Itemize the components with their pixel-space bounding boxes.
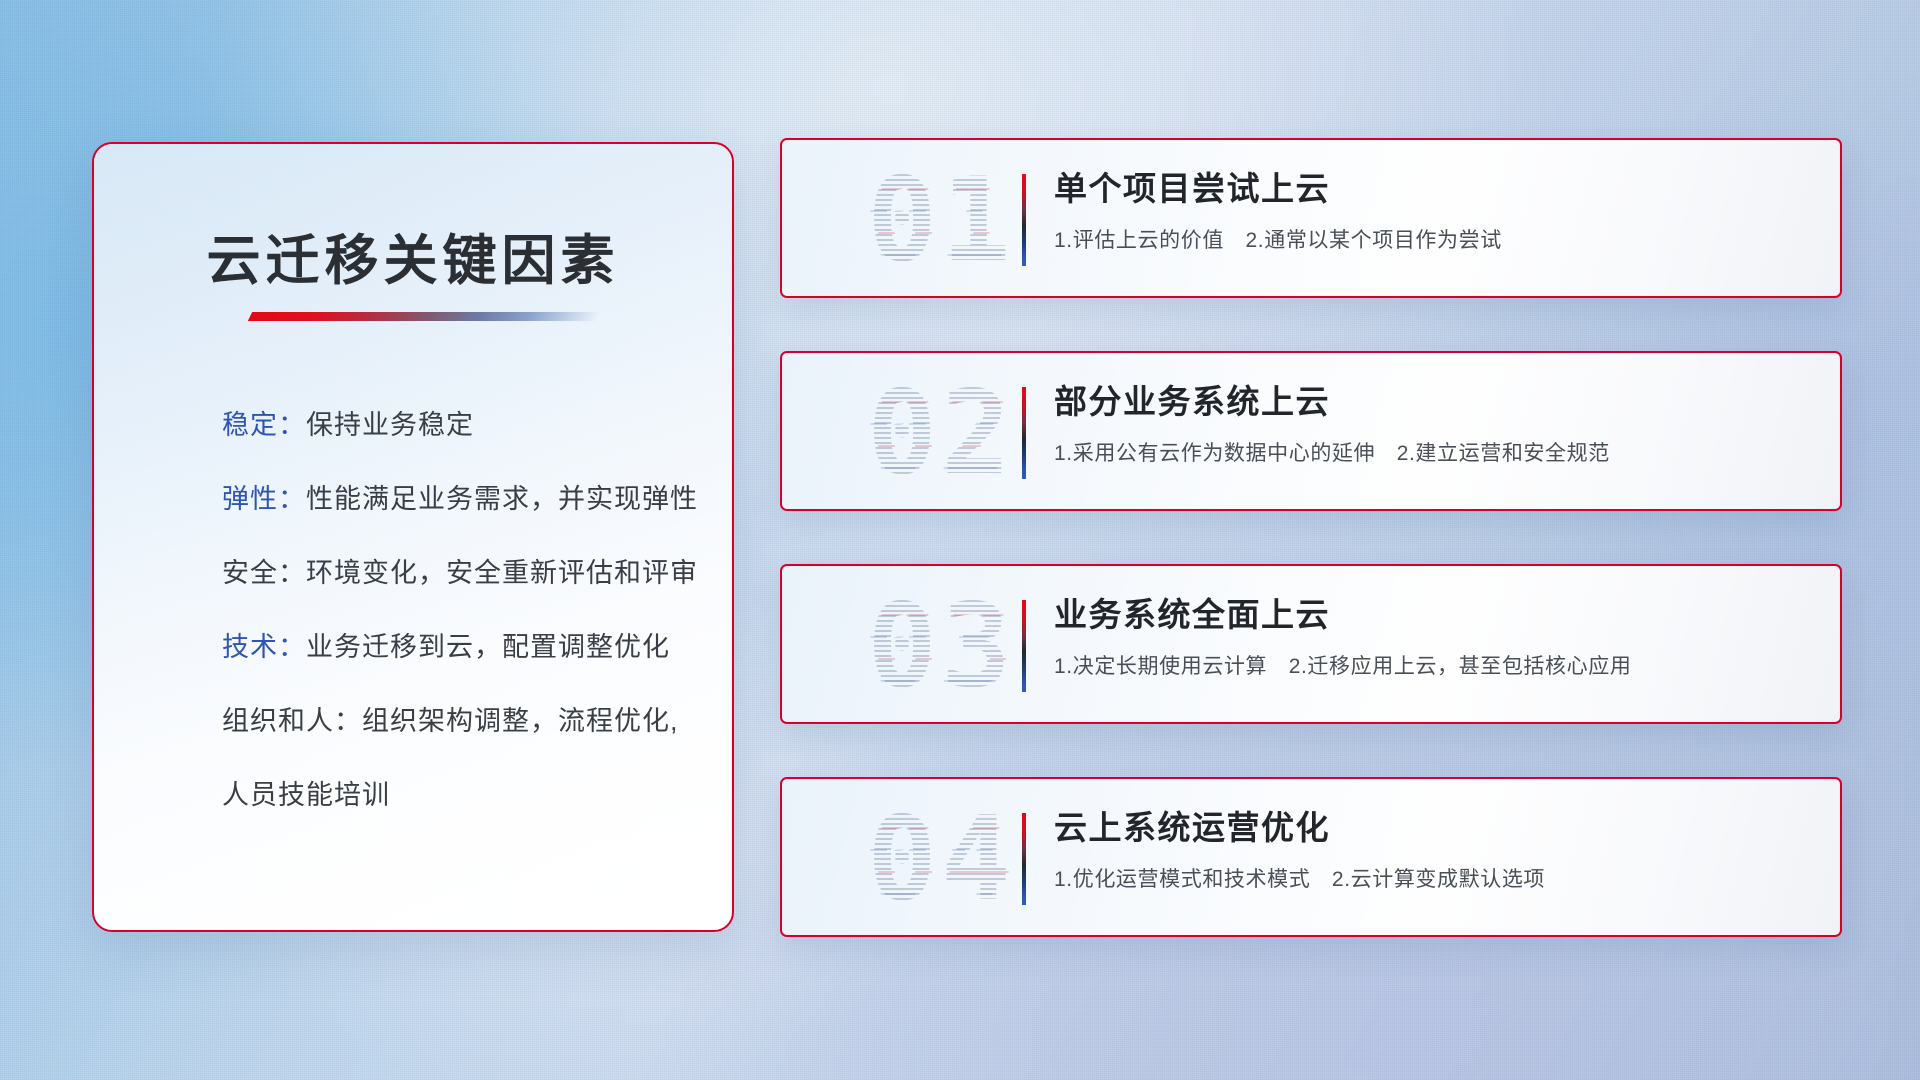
key-factor-text: 性能满足业务需求，并实现弹性	[306, 484, 698, 514]
stage-card[interactable]: 010101单个项目尝试上云1.评估上云的价值 2.通常以某个项目作为尝试	[780, 138, 1842, 298]
stage-number-watermark: 020202	[816, 367, 1066, 499]
stage-card-title: 部分业务系统上云	[1054, 383, 1806, 421]
key-factor-row: 安全：环境变化，安全重新评估和评审	[222, 560, 690, 587]
key-factors-list: 稳定：保持业务稳定弹性：性能满足业务需求，并实现弹性安全：环境变化，安全重新评估…	[222, 412, 690, 809]
key-factor-text: 环境变化，安全重新评估和评审	[306, 558, 698, 588]
key-factor-label: 安全：	[222, 558, 306, 588]
key-factor-text: 业务迁移到云，配置调整优化	[306, 632, 670, 662]
stage-number-watermark: 010101	[816, 154, 1066, 286]
stage-number-watermark: 030303	[816, 580, 1066, 712]
key-factor-label: 弹性：	[222, 484, 306, 514]
key-factor-text: 人员技能培训	[222, 780, 390, 810]
page-title: 云迁移关键因素	[94, 216, 732, 295]
stage-card[interactable]: 030303业务系统全面上云1.决定长期使用云计算 2.迁移应用上云，甚至包括核…	[780, 564, 1842, 724]
stage-card-body: 部分业务系统上云1.采用公有云作为数据中心的延伸 2.建立运营和安全规范	[1054, 383, 1806, 467]
stage-card-description: 1.评估上云的价值 2.通常以某个项目作为尝试	[1054, 224, 1806, 254]
stage-card-title: 云上系统运营优化	[1054, 809, 1806, 847]
cloud-migration-stages: 010101单个项目尝试上云1.评估上云的价值 2.通常以某个项目作为尝试020…	[780, 138, 1842, 937]
key-factor-text: 组织架构调整，流程优化,	[362, 706, 679, 736]
stage-number-glyph: 02	[816, 367, 1066, 499]
key-factor-text: 保持业务稳定	[306, 410, 474, 440]
key-factor-label: 技术：	[222, 632, 306, 662]
stage-number-glyph: 04	[816, 793, 1066, 925]
key-factor-row: 组织和人：组织架构调整，流程优化,	[222, 708, 690, 735]
stage-card-body: 云上系统运营优化1.优化运营模式和技术模式 2.云计算变成默认选项	[1054, 809, 1806, 893]
stage-card-description: 1.优化运营模式和技术模式 2.云计算变成默认选项	[1054, 863, 1806, 893]
stage-number-glyph: 01	[816, 154, 1066, 286]
slide-content: 云迁移关键因素 稳定：保持业务稳定弹性：性能满足业务需求，并实现弹性安全：环境变…	[0, 0, 1920, 1080]
key-factors-panel: 云迁移关键因素 稳定：保持业务稳定弹性：性能满足业务需求，并实现弹性安全：环境变…	[92, 142, 734, 932]
key-factor-row: 技术：业务迁移到云，配置调整优化	[222, 634, 690, 661]
stage-card[interactable]: 040404云上系统运营优化1.优化运营模式和技术模式 2.云计算变成默认选项	[780, 777, 1842, 937]
stage-card-title: 业务系统全面上云	[1054, 596, 1806, 634]
stage-number-glyph: 03	[816, 580, 1066, 712]
key-factor-row: 弹性：性能满足业务需求，并实现弹性	[222, 486, 690, 513]
stage-number-glyph: 02	[819, 367, 1069, 499]
stage-card-body: 业务系统全面上云1.决定长期使用云计算 2.迁移应用上云，甚至包括核心应用	[1054, 596, 1806, 680]
key-factor-label: 稳定：	[222, 410, 306, 440]
stage-number-glyph: 03	[819, 580, 1069, 712]
title-underline-accent	[248, 312, 600, 321]
stage-card[interactable]: 020202部分业务系统上云1.采用公有云作为数据中心的延伸 2.建立运营和安全…	[780, 351, 1842, 511]
key-factor-row: 人员技能培训	[222, 782, 690, 809]
stage-divider-accent	[1022, 174, 1026, 266]
stage-divider-accent	[1022, 813, 1026, 905]
stage-number-glyph: 04	[819, 793, 1069, 925]
key-factor-row: 稳定：保持业务稳定	[222, 412, 690, 439]
stage-card-title: 单个项目尝试上云	[1054, 170, 1806, 208]
stage-number-watermark: 040404	[816, 793, 1066, 925]
stage-card-body: 单个项目尝试上云1.评估上云的价值 2.通常以某个项目作为尝试	[1054, 170, 1806, 254]
stage-card-description: 1.采用公有云作为数据中心的延伸 2.建立运营和安全规范	[1054, 437, 1806, 467]
stage-divider-accent	[1022, 387, 1026, 479]
stage-divider-accent	[1022, 600, 1026, 692]
stage-card-description: 1.决定长期使用云计算 2.迁移应用上云，甚至包括核心应用	[1054, 650, 1806, 680]
key-factor-label: 组织和人：	[222, 706, 362, 736]
stage-number-glyph: 01	[819, 154, 1069, 286]
